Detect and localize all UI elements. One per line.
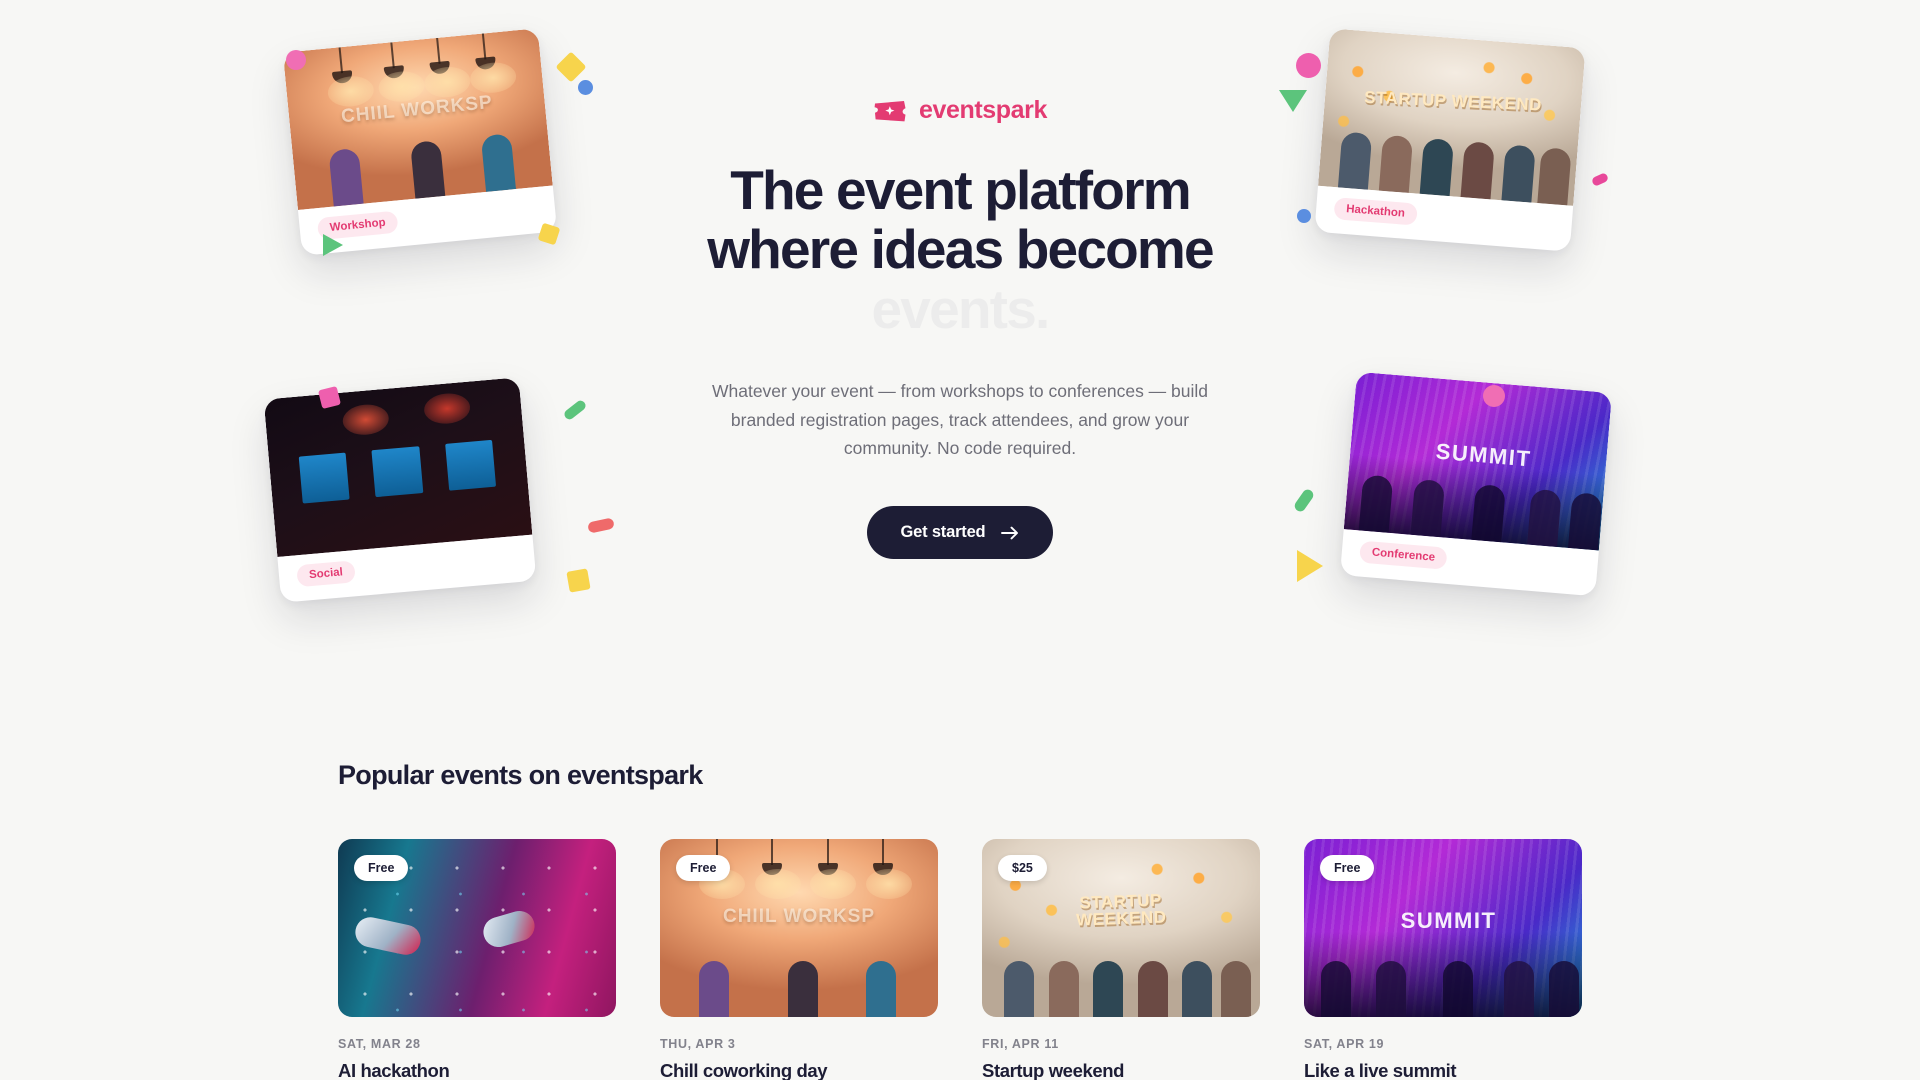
confetti-yellow-diamond <box>555 51 586 82</box>
price-badge: Free <box>676 855 730 881</box>
event-title: Startup weekend <box>982 1060 1260 1080</box>
price-badge: Free <box>354 855 408 881</box>
floating-card-hackathon[interactable]: STARTUP WEEKEND Hackathon <box>1314 28 1585 251</box>
event-title: AI hackathon <box>338 1060 616 1080</box>
social-photo <box>264 377 533 557</box>
card-tag-social: Social <box>296 560 356 587</box>
confetti-yellow-square-left <box>538 223 561 246</box>
confetti-pink-circle <box>286 50 306 70</box>
event-thumbnail: CHIIL WORKSP Free <box>660 839 938 1017</box>
confetti-pink-circle-conf <box>1483 385 1505 407</box>
page-title: The event platform where ideas become ev… <box>580 161 1340 339</box>
floating-card-workshop[interactable]: CHIIL WORKSP Workshop <box>283 28 557 256</box>
card-tag-hackathon: Hackathon <box>1333 197 1417 225</box>
event-card[interactable]: Free SAT, MAR 28 AI hackathon <box>338 839 616 1080</box>
hero-section: CHIIL WORKSP Workshop STARTUP WEEKEND <box>0 0 1920 700</box>
landing-page: CHIIL WORKSP Workshop STARTUP WEEKEND <box>0 0 1920 1080</box>
workshop-photo: CHIIL WORKSP <box>283 28 553 210</box>
confetti-magenta-circle <box>1296 53 1321 78</box>
headline-line-2: where ideas become <box>580 220 1340 279</box>
popular-events-section: Popular events on eventspark Free SAT, M… <box>0 760 1920 1080</box>
floating-card-conference[interactable]: SUMMIT Conference <box>1340 372 1612 597</box>
price-badge: $25 <box>998 855 1047 881</box>
event-thumbnail: Free <box>338 839 616 1017</box>
event-date: THU, APR 3 <box>660 1037 938 1051</box>
event-thumbnail: STARTUPWEEKEND $25 <box>982 839 1260 1017</box>
floating-card-social[interactable]: Social <box>264 377 537 603</box>
cta-container: Get started <box>580 506 1340 559</box>
event-thumbnail: SUMMIT Free <box>1304 839 1582 1017</box>
confetti-blue-circle <box>578 80 593 95</box>
ticket-sparkle-icon <box>873 99 907 123</box>
headline-line-3: events. <box>580 280 1340 339</box>
arrow-right-icon <box>1001 526 1019 540</box>
event-card[interactable]: STARTUPWEEKEND $25 FRI, APR 11 Startup <box>982 839 1260 1080</box>
confetti-green-triangle <box>323 234 343 256</box>
conference-photo: SUMMIT <box>1344 372 1612 551</box>
confetti-magenta-bar <box>1591 172 1609 187</box>
thumb-wall-text: SUMMIT <box>1401 908 1497 934</box>
confetti-yellow-square-social <box>566 568 590 592</box>
get-started-label: Get started <box>901 523 986 542</box>
hero-content: eventspark The event platform where idea… <box>580 96 1340 559</box>
hackathon-photo: STARTUP WEEKEND <box>1318 28 1586 206</box>
headline-line-1: The event platform <box>580 161 1340 220</box>
brand-name: eventspark <box>919 96 1047 125</box>
price-badge: Free <box>1320 855 1374 881</box>
event-title: Chill coworking day <box>660 1060 938 1080</box>
hero-subtext: Whatever your event — from workshops to … <box>700 377 1220 462</box>
get-started-button[interactable]: Get started <box>867 506 1054 559</box>
event-title: Like a live summit <box>1304 1060 1582 1080</box>
event-date: FRI, APR 11 <box>982 1037 1260 1051</box>
brand-logo[interactable]: eventspark <box>580 96 1340 125</box>
event-date: SAT, APR 19 <box>1304 1037 1582 1051</box>
event-card[interactable]: SUMMIT Free SAT, APR 19 Like a live summ… <box>1304 839 1582 1080</box>
card-tag-conference: Conference <box>1359 541 1448 570</box>
thumb-wall-text: STARTUPWEEKEND <box>1075 892 1167 929</box>
section-title: Popular events on eventspark <box>338 760 1582 791</box>
events-grid: Free SAT, MAR 28 AI hackathon <box>338 839 1582 1080</box>
event-card[interactable]: CHIIL WORKSP Free THU, APR 3 Chill cowor… <box>660 839 938 1080</box>
event-date: SAT, MAR 28 <box>338 1037 616 1051</box>
thumb-wall-text: CHIIL WORKSP <box>723 906 875 928</box>
